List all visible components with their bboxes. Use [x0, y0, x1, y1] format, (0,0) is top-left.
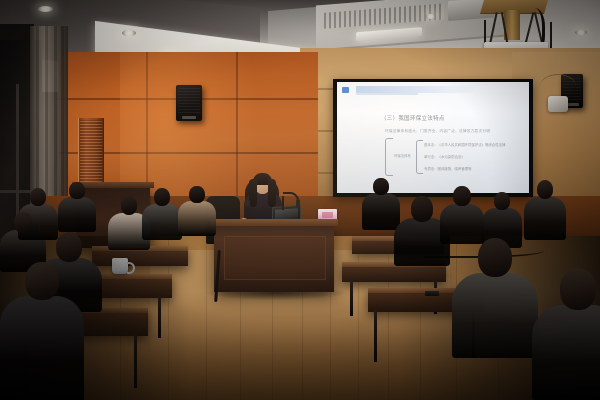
attendee-shoulder-highlight: [58, 197, 96, 232]
document-toolbar[interactable]: [342, 86, 492, 95]
presenter-desk: [214, 224, 334, 292]
lecture-room-photo: （三）我国环保立法特点 环保法律体系庞大、门类齐全、内容广泛、法律效力层次分明 …: [0, 0, 600, 400]
attendee-head: [69, 182, 84, 199]
attendee-head: [494, 192, 510, 210]
attendee-shoulder-highlight: [440, 204, 484, 244]
attendee-head: [453, 186, 471, 206]
attendee-shoulder-highlight: [362, 193, 400, 230]
attendee-6: [142, 188, 182, 240]
document-app-icon: [342, 87, 349, 93]
attendee-torso: [58, 197, 96, 232]
attendee-11: [440, 186, 484, 244]
presenter-hair-left: [249, 179, 257, 207]
attendee-7: [178, 186, 216, 236]
presenter-desk-panel: [224, 236, 326, 280]
attendee-torso: [142, 204, 182, 240]
attendee-shoulder-highlight: [532, 305, 600, 400]
attendee-head: [154, 188, 170, 206]
attendee-9: [362, 178, 400, 230]
slide-row-3: 专项法：固体废物、噪声管理等: [424, 166, 471, 171]
desk-microphone-head: [245, 200, 250, 206]
ceiling-downlight-1: [38, 6, 53, 12]
ceiling-downlight-7: [575, 30, 587, 35]
attendee-head: [121, 196, 138, 215]
attendee-head: [373, 178, 388, 195]
attendee-head: [537, 180, 554, 199]
attendee-torso: [440, 204, 484, 244]
attendee-shoulder-highlight: [524, 197, 566, 240]
slide-row-1: 基本法：《中华人民共和国环境保护法》等综合性法律: [424, 142, 505, 147]
attendee-head: [14, 212, 32, 233]
attendee-head: [56, 232, 82, 262]
attendee-head: [411, 196, 433, 222]
attendee-head: [560, 268, 597, 310]
slide-row-2: 单行法：《水污染防治法》: [424, 154, 465, 159]
attendee-torso: [362, 193, 400, 230]
attendee-head: [25, 262, 59, 300]
attendee-head: [478, 238, 512, 277]
ceiling-downlight-2: [122, 30, 136, 36]
attendee-shoulder-highlight: [0, 296, 84, 400]
attendee-13: [524, 180, 566, 240]
attendee-shoulder-highlight: [142, 204, 182, 240]
presenter-hair-right: [268, 179, 276, 207]
slide-brace-outer: [385, 138, 393, 176]
document-subbar: [356, 93, 418, 95]
attendee-torso: [524, 197, 566, 240]
ceiling-strip-light: [356, 27, 422, 41]
attendee-3: [58, 182, 96, 232]
attendee-torso: [532, 305, 600, 400]
attendee-shoulder-highlight: [452, 273, 538, 358]
attendee-torso: [0, 296, 84, 400]
slide-group-label: 环保法体系: [394, 153, 411, 158]
attendee-head: [189, 186, 204, 203]
attendee-torso: [178, 201, 216, 236]
presenter-desk-top: [210, 219, 338, 226]
screen-glare: [337, 82, 529, 193]
attendee-torso: [452, 273, 538, 358]
ceiling-downlight-8: [425, 14, 436, 19]
document-title-bar: [356, 86, 474, 93]
slide-lead-text: 环保法律体系庞大、门类齐全、内容广泛、法律效力层次分明: [385, 129, 490, 134]
projection-screen[interactable]: （三）我国环保立法特点 环保法律体系庞大、门类齐全、内容广泛、法律效力层次分明 …: [337, 82, 529, 193]
wall-light-fixture: [548, 96, 568, 112]
slide-brace-inner: [416, 140, 423, 174]
attendee-head: [30, 188, 46, 206]
tissue-box-label: [322, 212, 333, 218]
gooseneck-mic-head: [296, 199, 300, 207]
attendee-shoulder-highlight: [178, 201, 216, 236]
wall-speaker-left: [176, 85, 202, 121]
slide-title: （三）我国环保立法特点: [381, 114, 445, 122]
